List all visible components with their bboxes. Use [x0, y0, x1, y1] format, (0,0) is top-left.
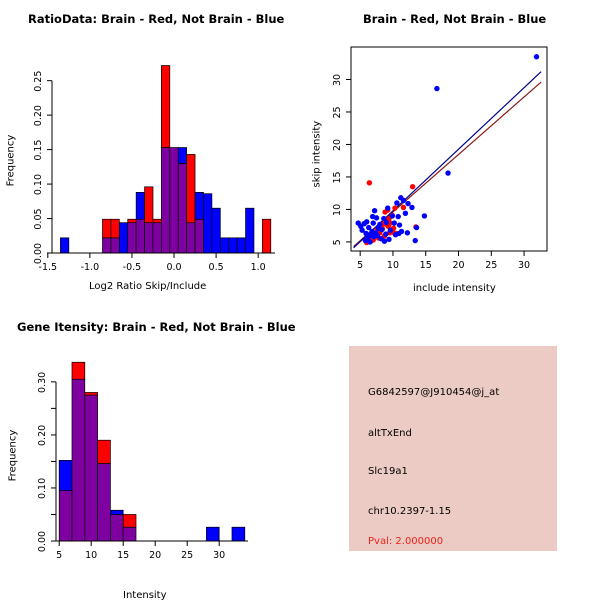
x-tick-label: 15 [117, 550, 129, 561]
scatter-point [371, 220, 376, 225]
x-tick-label: 20 [149, 550, 161, 561]
histogram-bar-overlap [98, 464, 111, 541]
histogram-bar [229, 238, 237, 253]
x-tick-label: 5 [357, 260, 363, 271]
histogram-bar-overlap [153, 223, 161, 253]
scatter-point [409, 205, 414, 210]
histogram-bar [232, 527, 245, 541]
intensity-scatter-panel: Brain - Red, Not Brain - Blue 5101520253… [300, 0, 600, 300]
histogram-bar-overlap [111, 238, 119, 253]
scatter-point [410, 184, 415, 189]
scatter-point [383, 231, 388, 236]
scatter-point [405, 201, 410, 206]
gene-histogram-ylabel: Frequency [8, 426, 19, 486]
ratio-histogram-plot: 0.000.050.100.150.200.25-1.5-1.0-0.50.00… [0, 0, 300, 300]
x-tick-label: 20 [452, 260, 464, 271]
scatter-point [372, 208, 377, 213]
histogram-bar [195, 192, 203, 219]
y-tick-label: 0.00 [37, 531, 48, 552]
histogram-bar-overlap [85, 395, 98, 541]
histogram-bar [85, 392, 98, 395]
x-tick-label: 25 [485, 260, 497, 271]
histogram-bar-overlap [110, 514, 123, 541]
info-locus: chr10.2397-1.15 [368, 506, 451, 517]
scatter-point [392, 220, 397, 225]
x-tick-label: 25 [181, 550, 193, 561]
histogram-bar [145, 187, 153, 223]
y-tick-label: 0.15 [33, 140, 44, 161]
histogram-bar-overlap [170, 148, 178, 253]
x-tick-label: 1.0 [251, 262, 266, 273]
scatter-point [392, 205, 397, 210]
y-tick-label: 0.05 [33, 208, 44, 229]
scatter-point [382, 239, 387, 244]
x-tick-label: 30 [213, 550, 225, 561]
scatter-point [414, 225, 419, 230]
scatter-point [375, 233, 380, 238]
scatter-point [363, 238, 368, 243]
gene-intensity-histogram-panel: Gene Itensity: Brain - Red, Not Brain - … [0, 300, 300, 600]
y-tick-label: 15 [332, 171, 343, 183]
histogram-bar-overlap [102, 238, 110, 253]
histogram-bar [72, 362, 85, 379]
ratio-histogram-xlabel: Log2 Ratio Skip/Include [89, 281, 206, 292]
regression-line [354, 72, 541, 248]
scatter-point [395, 214, 400, 219]
histogram-bar [161, 66, 169, 148]
histogram-bar-overlap [123, 527, 136, 541]
histogram-bar [246, 208, 254, 253]
scatter-point [370, 214, 375, 219]
histogram-bar [60, 238, 68, 253]
scatter-point [413, 238, 418, 243]
scatter-point [401, 198, 406, 203]
info-probe-id: G6842597@J910454@j_at [368, 387, 499, 398]
histogram-bar [203, 194, 211, 253]
scatter-point [384, 220, 389, 225]
histogram-bar-overlap [178, 163, 186, 253]
x-tick-label: 5 [56, 550, 62, 561]
scatter-point [534, 54, 539, 59]
x-tick-label: -1.0 [81, 262, 100, 273]
histogram-bar [237, 238, 245, 253]
scatter-point [405, 230, 410, 235]
histogram-bar [206, 527, 219, 541]
histogram-bar [220, 238, 228, 253]
gene-histogram-xlabel: Intensity [123, 590, 167, 601]
x-tick-label: -1.5 [39, 262, 58, 273]
scatter-point [401, 205, 406, 210]
scatter-point [388, 228, 393, 233]
histogram-bar [98, 440, 111, 463]
plot-box [351, 47, 547, 251]
y-tick-label: 5 [332, 239, 343, 245]
info-gene-symbol: Slc19a1 [368, 466, 408, 477]
scatter-point [385, 205, 390, 210]
x-tick-label: 0.5 [209, 262, 224, 273]
x-tick-label: -0.5 [123, 262, 142, 273]
scatter-point [397, 222, 402, 227]
x-tick-label: 10 [387, 260, 399, 271]
histogram-bar [110, 510, 123, 514]
histogram-bar-overlap [161, 148, 169, 253]
histogram-bar [153, 219, 161, 222]
y-tick-label: 0.20 [37, 425, 48, 446]
scatter-point [394, 200, 399, 205]
histogram-bar [59, 460, 72, 490]
y-tick-label: 20 [332, 139, 343, 151]
scatter-point [379, 227, 384, 232]
histogram-bar [119, 223, 127, 253]
x-tick-label: 30 [518, 260, 530, 271]
scatter-point [367, 180, 372, 185]
histogram-bar-overlap [145, 223, 153, 253]
histogram-bar-overlap [72, 379, 85, 541]
scatter-point [422, 213, 427, 218]
gene-info-panel: G6842597@J910454@j_at altTxEnd Slc19a1 c… [349, 346, 557, 551]
ratio-histogram-ylabel: Frequency [6, 131, 17, 191]
gene-intensity-histogram-plot: 0.000.100.200.3051015202530 [0, 300, 300, 600]
histogram-bar [111, 219, 119, 238]
y-tick-label: 0.00 [33, 243, 44, 264]
x-tick-label: 0.0 [166, 262, 181, 273]
histogram-bar [128, 219, 136, 222]
y-tick-label: 10 [332, 204, 343, 216]
y-tick-label: 25 [332, 106, 343, 118]
y-tick-label: 30 [332, 74, 343, 86]
intensity-scatter-plot: 5101520253051015202530 [300, 0, 600, 300]
histogram-bar-overlap [59, 491, 72, 541]
y-tick-label: 0.10 [37, 478, 48, 499]
scatter-point [396, 231, 401, 236]
histogram-bar [136, 192, 144, 219]
x-tick-label: 15 [420, 260, 432, 271]
scatter-xlabel: include intensity [413, 283, 496, 294]
scatter-ylabel: skip intensity [312, 128, 323, 188]
info-event-type: altTxEnd [368, 428, 412, 439]
scatter-point [367, 239, 372, 244]
y-tick-label: 0.25 [33, 71, 44, 92]
ratio-histogram-panel: RatioData: Brain - Red, Not Brain - Blue… [0, 0, 300, 300]
y-tick-label: 0.30 [37, 372, 48, 393]
histogram-bar-overlap [136, 219, 144, 253]
scatter-point [390, 213, 395, 218]
histogram-bar [262, 219, 270, 253]
scatter-point [445, 170, 450, 175]
info-pval: Pval: 2.000000 [368, 536, 443, 547]
histogram-bar-overlap [195, 219, 203, 253]
histogram-bar [178, 148, 186, 164]
histogram-bar [102, 219, 110, 238]
y-tick-label: 0.10 [33, 174, 44, 195]
histogram-bar [187, 154, 195, 222]
histogram-bar [123, 514, 136, 527]
histogram-bar [212, 208, 220, 253]
scatter-point [403, 211, 408, 216]
scatter-point [358, 224, 363, 229]
histogram-bar-overlap [187, 223, 195, 253]
x-tick-label: 10 [85, 550, 97, 561]
y-tick-label: 0.20 [33, 105, 44, 126]
histogram-bar-overlap [128, 223, 136, 253]
scatter-point [434, 86, 439, 91]
